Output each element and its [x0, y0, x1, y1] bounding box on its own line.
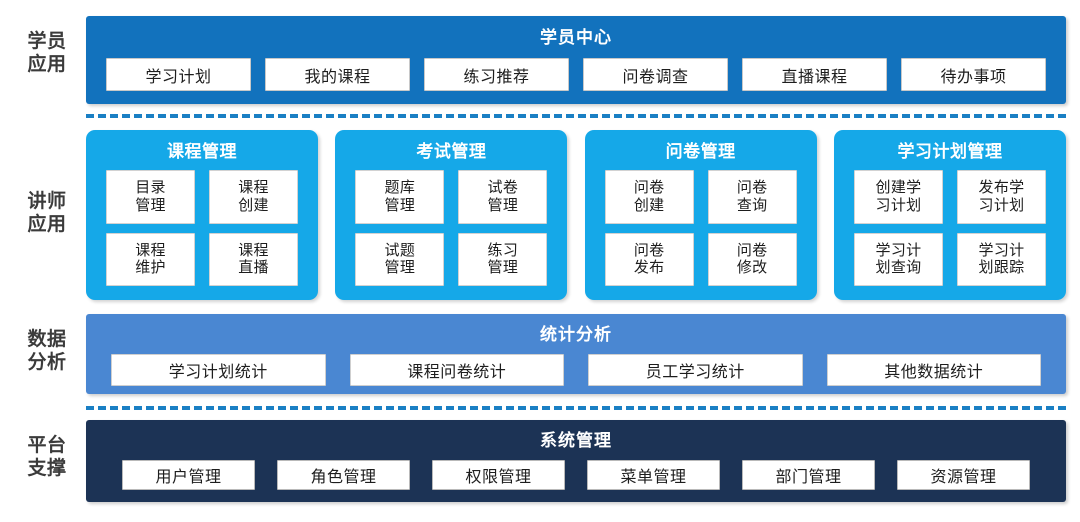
- module-title-questionnaire-management: 问卷管理: [585, 137, 817, 162]
- statistics-analysis-title: 统计分析: [86, 320, 1066, 345]
- chip-questionnaire-survey[interactable]: 问卷调查: [583, 58, 728, 91]
- tile-text-line2: 划跟踪: [979, 259, 1025, 276]
- tile-text-line1: 练习: [488, 242, 519, 259]
- tile-text-line1: 发布学: [979, 179, 1025, 196]
- tile-text-line2: 习计划: [876, 197, 922, 214]
- tile-text-line1: 问卷: [634, 242, 665, 259]
- tile-questionnaire-modify[interactable]: 问卷 修改: [708, 233, 797, 287]
- tile-text-line2: 管理: [385, 259, 416, 276]
- system-management-band: 系统管理 用户管理 角色管理 权限管理 菜单管理 部门管理 资源管理: [86, 420, 1066, 502]
- instructor-card-row: 课程管理 目录 管理 课程 创建 课程 维: [86, 130, 1066, 300]
- tile-grid-questionnaire-management: 问卷 创建 问卷 查询 问卷 发布: [585, 170, 817, 300]
- tile-text-line2: 修改: [737, 259, 768, 276]
- row-label-data-analysis: 数据 分析: [14, 328, 80, 374]
- chip-user-management[interactable]: 用户管理: [122, 460, 255, 490]
- tile-text-line1: 试题: [385, 242, 416, 259]
- tile-text-line2: 管理: [135, 197, 166, 214]
- row-label-student-line1: 学员: [27, 31, 66, 52]
- row-label-student-line2: 应用: [14, 53, 80, 76]
- chip-department-management[interactable]: 部门管理: [742, 460, 875, 490]
- row-label-data-analysis-line1: 数据: [27, 329, 66, 350]
- tile-exam-paper-management[interactable]: 试卷 管理: [458, 170, 547, 224]
- tile-text-line1: 问卷: [737, 242, 768, 259]
- tile-grid-course-management: 目录 管理 课程 创建 课程 维护: [86, 170, 318, 300]
- tile-text-line1: 学习计: [979, 242, 1025, 259]
- tile-text-line2: 划查询: [876, 259, 922, 276]
- tile-course-creation[interactable]: 课程 创建: [209, 170, 298, 224]
- row-label-platform-support: 平台 支撑: [14, 434, 80, 480]
- tile-question-bank-management[interactable]: 题库 管理: [355, 170, 444, 224]
- tile-text-line1: 目录: [135, 179, 166, 196]
- tile-text-line1: 学习计: [876, 242, 922, 259]
- row-label-platform-support-line1: 平台: [27, 435, 66, 456]
- module-title-study-plan-management: 学习计划管理: [834, 137, 1066, 162]
- tile-course-maintenance[interactable]: 课程 维护: [106, 233, 195, 287]
- student-center-title: 学员中心: [86, 23, 1066, 48]
- dashed-divider-bottom: [86, 406, 1066, 410]
- tile-questionnaire-query[interactable]: 问卷 查询: [708, 170, 797, 224]
- tile-text-line2: 管理: [488, 197, 519, 214]
- tile-text-line1: 创建学: [876, 179, 922, 196]
- tile-text-line1: 课程: [238, 179, 269, 196]
- module-title-course-management: 课程管理: [86, 137, 318, 162]
- module-card-exam-management[interactable]: 考试管理 题库 管理 试卷 管理 试题 管: [335, 130, 567, 300]
- chip-employee-study-statistics[interactable]: 员工学习统计: [588, 354, 803, 386]
- chip-menu-management[interactable]: 菜单管理: [587, 460, 720, 490]
- chip-study-plan-statistics[interactable]: 学习计划统计: [111, 354, 326, 386]
- tile-questionnaire-create[interactable]: 问卷 创建: [605, 170, 694, 224]
- tile-track-study-plan[interactable]: 学习计 划跟踪: [957, 233, 1046, 287]
- tile-text-line1: 问卷: [737, 179, 768, 196]
- tile-text-line2: 维护: [135, 259, 166, 276]
- student-chip-row: 学习计划 我的课程 练习推荐 问卷调查 直播课程 待办事项: [86, 58, 1066, 91]
- tile-grid-exam-management: 题库 管理 试卷 管理 试题 管理: [335, 170, 567, 300]
- dashed-divider-top: [86, 114, 1066, 118]
- tile-text-line1: 问卷: [634, 179, 665, 196]
- system-chip-row: 用户管理 角色管理 权限管理 菜单管理 部门管理 资源管理: [86, 460, 1066, 490]
- tile-create-study-plan[interactable]: 创建学 习计划: [854, 170, 943, 224]
- tile-course-live[interactable]: 课程 直播: [209, 233, 298, 287]
- statistics-chip-row: 学习计划统计 课程问卷统计 员工学习统计 其他数据统计: [86, 354, 1066, 386]
- tile-text-line2: 直播: [238, 259, 269, 276]
- tile-publish-study-plan[interactable]: 发布学 习计划: [957, 170, 1046, 224]
- chip-permission-management[interactable]: 权限管理: [432, 460, 565, 490]
- tile-question-management[interactable]: 试题 管理: [355, 233, 444, 287]
- row-label-platform-support-line2: 支撑: [14, 457, 80, 480]
- tile-text-line1: 课程: [135, 242, 166, 259]
- tile-text-line2: 习计划: [979, 197, 1025, 214]
- tile-practice-management[interactable]: 练习 管理: [458, 233, 547, 287]
- row-label-instructor: 讲师 应用: [14, 190, 80, 236]
- tile-text-line2: 管理: [488, 259, 519, 276]
- tile-text-line2: 创建: [238, 197, 269, 214]
- tile-text-line1: 试卷: [488, 179, 519, 196]
- chip-course-questionnaire-statistics[interactable]: 课程问卷统计: [350, 354, 565, 386]
- module-card-questionnaire-management[interactable]: 问卷管理 问卷 创建 问卷 查询 问卷 发: [585, 130, 817, 300]
- tile-questionnaire-publish[interactable]: 问卷 发布: [605, 233, 694, 287]
- tile-grid-study-plan-management: 创建学 习计划 发布学 习计划 学习计 划查询: [834, 170, 1066, 300]
- tile-text-line1: 题库: [385, 179, 416, 196]
- chip-my-courses[interactable]: 我的课程: [265, 58, 410, 91]
- tile-text-line2: 查询: [737, 197, 768, 214]
- system-management-title: 系统管理: [86, 426, 1066, 451]
- tile-text-line2: 管理: [385, 197, 416, 214]
- tile-query-study-plan[interactable]: 学习计 划查询: [854, 233, 943, 287]
- chip-todo-items[interactable]: 待办事项: [901, 58, 1046, 91]
- module-title-exam-management: 考试管理: [335, 137, 567, 162]
- chip-study-plan[interactable]: 学习计划: [106, 58, 251, 91]
- row-label-student: 学员 应用: [14, 30, 80, 76]
- tile-text-line1: 课程: [238, 242, 269, 259]
- chip-live-course[interactable]: 直播课程: [742, 58, 887, 91]
- chip-other-data-statistics[interactable]: 其他数据统计: [827, 354, 1042, 386]
- statistics-analysis-band: 统计分析 学习计划统计 课程问卷统计 员工学习统计 其他数据统计: [86, 314, 1066, 394]
- student-center-band: 学员中心 学习计划 我的课程 练习推荐 问卷调查 直播课程 待办事项: [86, 16, 1066, 104]
- chip-role-management[interactable]: 角色管理: [277, 460, 410, 490]
- chip-practice-recommend[interactable]: 练习推荐: [424, 58, 569, 91]
- module-card-study-plan-management[interactable]: 学习计划管理 创建学 习计划 发布学 习计划 学习计: [834, 130, 1066, 300]
- tile-text-line2: 发布: [634, 259, 665, 276]
- module-card-course-management[interactable]: 课程管理 目录 管理 课程 创建 课程 维: [86, 130, 318, 300]
- tile-catalog-management[interactable]: 目录 管理: [106, 170, 195, 224]
- chip-resource-management[interactable]: 资源管理: [897, 460, 1030, 490]
- row-label-instructor-line1: 讲师: [27, 191, 66, 212]
- architecture-diagram: 学员 应用 学员中心 学习计划 我的课程 练习推荐 问卷调查 直播课程 待办事项…: [0, 0, 1080, 522]
- tile-text-line2: 创建: [634, 197, 665, 214]
- row-label-data-analysis-line2: 分析: [14, 351, 80, 374]
- row-label-instructor-line2: 应用: [14, 213, 80, 236]
